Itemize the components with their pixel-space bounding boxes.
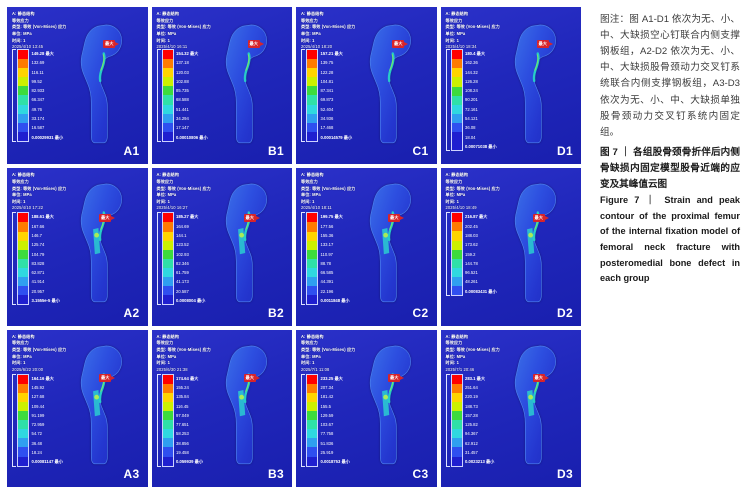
legend-value: 72.161 [465,105,497,114]
legend-values: 199.75 最大177.56155.36133.17110.9788.7866… [321,212,350,305]
legend-value: 149.28 最大 [32,49,64,58]
legend-value: 66.585 [321,268,350,277]
legend-value: 162.36 [465,58,497,67]
legend-value: 18.24 [32,448,63,457]
legend-swatch [307,77,317,86]
legend-value: 102.88 [176,77,208,86]
legend-value: 164.16 最大 [32,374,63,383]
legend-value: 0.00029931 最小 [32,133,64,142]
legend-color-bar [162,212,174,305]
femur-model [358,19,424,147]
contour-panel-b3[interactable]: A: 静态结构等效应力类型: 等效 (Von-Mises) 应力单位: MPa时… [151,329,294,488]
legend-value: 157.28 [465,411,494,420]
legend-swatch [163,259,173,268]
panel-header: A: 静态结构等效应力类型: 等效 (Von-Mises) 应力单位: MPa时… [446,11,500,51]
legend-swatch [307,232,317,241]
max-stress-callout: 最大 [244,214,256,222]
legend-value: 22.196 [321,287,350,296]
legend-bracket [12,49,16,142]
legend-swatch [18,457,28,466]
legend-value: 188.73 [465,402,494,411]
legend-value: 85.735 [176,86,208,95]
legend-swatch [18,402,28,411]
legend-swatch [163,50,173,59]
header-line2: 等效应力 [446,340,500,347]
panel-header: A: 静态结构等效应力类型: 等效 (Von-Mises) 应力单位: MPa时… [157,11,211,51]
panel-id-label: C1 [413,144,429,158]
header-line1: A: 静态结构 [301,172,355,179]
legend-value: 3.1555e-5 最小 [32,296,60,305]
max-stress-callout: 最大 [244,374,256,382]
legend-swatch [18,123,28,132]
legend-swatch [307,241,317,250]
legend-swatch [18,420,28,429]
legend-swatch [452,50,462,59]
legend-value: 90.201 [465,95,497,104]
legend-values: 154.32 最大137.18120.03102.8885.73568.5885… [176,49,208,142]
legend-value: 251.64 [465,383,494,392]
legend-swatch [163,114,173,123]
panel-id-label: B2 [268,306,284,320]
legend-color-bar [162,374,174,467]
legend-swatch [18,411,28,420]
legend-value: 0.0011848 最小 [321,296,350,305]
legend-values: 157.21 最大139.75122.28104.8187.34169.8735… [321,49,353,142]
legend-swatch [163,411,173,420]
legend-swatch [452,420,462,429]
header-line2: 等效应力 [157,340,211,347]
legend-swatch [163,232,173,241]
legend-swatch [18,232,28,241]
header-line3: 类型: 等效 (Von-Mises) 应力 [301,24,355,31]
legend-value: 48.261 [465,277,497,286]
legend-value: 77.651 [176,420,203,429]
legend-swatch [163,86,173,95]
legend-value: 36.08 [465,123,497,132]
legend-value: 44.391 [321,277,350,286]
header-line6: 2025/4/10 17:22 [12,205,66,212]
legend-swatch [18,68,28,77]
legend-value: 34.294 [176,114,208,123]
legend-value: 0.00010806 最小 [176,133,208,142]
legend-bracket [12,212,16,305]
legend-swatch [18,59,28,68]
legend-value: 216.87 最大 [465,212,497,221]
legend-value: 120.03 [176,68,208,77]
legend-swatch [163,295,173,304]
legend-swatch [307,295,317,304]
panel-header: A: 静态结构等效应力类型: 等效 (Von-Mises) 应力单位: MPa时… [301,334,355,374]
legend-swatch [163,457,173,466]
legend-swatch [307,105,317,114]
legend-swatch [163,438,173,447]
header-line6: 2025/4/10 18:11 [301,205,355,212]
header-line4: 单位: MPa [446,192,500,199]
legend-value: 62.871 [32,268,60,277]
legend-value: 125.74 [32,240,60,249]
header-line4: 单位: MPa [157,31,211,38]
legend-value: 58.253 [176,429,203,438]
legend-swatch [163,286,173,295]
legend-value: 66.347 [32,95,64,104]
legend-swatch [163,132,173,141]
legend-swatch [452,59,462,68]
legend-value: 25.919 [321,448,350,457]
header-line2: 等效应力 [446,179,500,186]
legend-swatch [18,393,28,402]
legend-value: 122.28 [321,68,353,77]
legend-value: 132.69 [32,58,64,67]
femur-model [503,340,569,468]
header-line6: 2025/6/30 21:38 [157,367,211,374]
legend-color-bar [306,212,318,305]
panel-id-label: D2 [557,306,573,320]
legend-value: 83.828 [32,259,60,268]
max-stress-callout: 最大 [99,214,111,222]
legend-value: 0.059939 最小 [176,457,203,466]
legend-swatch [163,59,173,68]
panel-id-label: A1 [124,144,140,158]
legend-swatch [18,259,28,268]
legend-value: 54.121 [465,114,497,123]
legend-color-bar [162,49,174,142]
legend-value: 123.52 [176,240,205,249]
femur-model [503,19,569,147]
legend-value: 33.174 [32,114,64,123]
stress-legend: 154.32 最大137.18120.03102.8885.73568.5885… [157,49,208,142]
legend-swatch [452,438,462,447]
legend-value: 180.4 最大 [465,49,497,58]
legend-value: 125.82 [465,420,494,429]
legend-swatch [452,402,462,411]
contour-panel-d2[interactable]: A: 静态结构等效应力类型: 等效 (Von-Mises) 应力单位: MPa时… [440,167,583,326]
legend-value: 0.00081147 最小 [32,457,63,466]
legend-swatch [307,68,317,77]
max-stress-callout: 最大 [388,374,400,382]
caption-note: 图注：图 A1-D1 依次为无、小、中、大缺损空心钉联合内侧支撑钢板组，A2-D… [600,12,740,141]
legend-value: 94.367 [465,429,494,438]
header-line6: 2025/4/10 16:27 [157,205,211,212]
header-line1: A: 静态结构 [446,172,500,179]
legend-value: 61.759 [176,268,205,277]
legend-swatch [18,132,28,141]
legend-swatch [307,268,317,277]
legend-value: 18.04 [465,133,497,142]
header-line5: 时间: 1 [301,360,355,367]
legend-value: 0.00083431 最小 [465,287,497,296]
contour-panel-b1[interactable]: A: 静态结构等效应力类型: 等效 (Von-Mises) 应力单位: MPa时… [151,6,294,165]
legend-value: 0.0008004 最小 [176,296,205,305]
header-line3: 类型: 等效 (Von-Mises) 应力 [12,347,66,354]
legend-swatch [163,429,173,438]
legend-value: 154.32 最大 [176,49,208,58]
legend-value: 0.0018753 最小 [321,457,350,466]
legend-value: 49.76 [32,105,64,114]
header-line3: 类型: 等效 (Von-Mises) 应力 [157,24,211,31]
legend-value: 0.00071038 最小 [465,142,497,151]
header-line5: 时间: 1 [12,360,66,367]
legend-swatch [163,105,173,114]
femur-model [214,340,280,468]
legend-swatch [307,50,317,59]
panel-header: A: 静态结构等效应力类型: 等效 (Von-Mises) 应力单位: MPa时… [12,334,66,374]
legend-value: 77.758 [321,429,350,438]
max-stress-callout: 最大 [533,214,545,222]
legend-value: 185.27 最大 [176,212,205,221]
legend-value: 96.521 [465,268,497,277]
stress-legend: 233.25 最大207.34181.42155.5129.59103.6777… [301,374,350,467]
contour-panel-b2[interactable]: A: 静态结构等效应力类型: 等效 (Von-Mises) 应力单位: MPa时… [151,167,294,326]
legend-swatch [307,132,317,141]
legend-value: 110.97 [321,250,350,259]
legend-swatch [307,222,317,231]
contour-panel-c1[interactable]: A: 静态结构等效应力类型: 等效 (Von-Mises) 应力单位: MPa时… [295,6,438,165]
legend-swatch [307,420,317,429]
max-stress-callout: 最大 [533,374,545,382]
legend-value: 127.68 [32,392,63,401]
legend-value: 91.199 [32,411,63,420]
legend-value: 68.588 [176,95,208,104]
stress-legend: 180.4 最大162.36144.32126.28108.2490.20172… [446,49,497,151]
legend-value: 207.34 [321,383,350,392]
header-line2: 等效应力 [301,179,355,186]
max-stress-callout: 最大 [392,40,404,48]
legend-bracket [12,374,16,467]
legend-swatch [163,250,173,259]
legend-bracket [301,212,305,305]
stress-legend: 164.16 最大145.92127.68109.4491.19972.9595… [12,374,63,467]
legend-bracket [446,49,450,151]
legend-value: 31.457 [465,448,494,457]
legend-swatch [18,114,28,123]
header-line2: 等效应力 [157,179,211,186]
legend-swatch [163,420,173,429]
panel-id-label: D1 [557,144,573,158]
header-line5: 时间: 1 [446,360,500,367]
legend-value: 173.62 [465,240,497,249]
legend-value: 108.24 [465,86,497,95]
legend-swatch [18,429,28,438]
contour-panel-d3[interactable]: A: 静态结构等效应力类型: 等效 (Von-Mises) 应力单位: MPa时… [440,329,583,488]
legend-value: 104.79 [32,250,60,259]
header-line3: 类型: 等效 (Von-Mises) 应力 [157,347,211,354]
legend-swatch [18,86,28,95]
legend-values: 233.25 最大207.34181.42155.5129.59103.6777… [321,374,350,467]
header-line1: A: 静态结构 [301,11,355,18]
legend-value: 139.75 [321,58,353,67]
header-line1: A: 静态结构 [12,11,66,18]
header-line6: 2025/7/1 20:46 [446,367,500,374]
legend-swatch [452,77,462,86]
legend-value: 146.7 [32,231,60,240]
femur-model [503,178,569,306]
header-line3: 类型: 等效 (Von-Mises) 应力 [301,347,355,354]
stress-legend: 216.87 最大202.45188.03173.62159.2144.7896… [446,212,497,296]
panel-header: A: 静态结构等效应力类型: 等效 (Von-Mises) 应力单位: MPa时… [446,334,500,374]
contour-panel-a3[interactable]: A: 静态结构等效应力类型: 等效 (Von-Mises) 应力单位: MPa时… [6,329,149,488]
legend-value: 72.959 [32,420,63,429]
legend-value: 103.67 [321,420,350,429]
panel-id-label: C3 [413,467,429,481]
legend-swatch [18,222,28,231]
legend-value: 157.21 最大 [321,49,353,58]
legend-value: 102.93 [176,250,205,259]
legend-swatch [163,241,173,250]
legend-value: 99.52 [32,77,64,86]
legend-swatch [452,457,462,466]
header-line6: 2025/4/10 18:49 [446,205,500,212]
legend-swatch [18,241,28,250]
stress-legend: 199.75 最大177.56155.36133.17110.9788.7866… [301,212,350,305]
caption-title-en: Figure 7 ｜ Strain and peak contour of th… [600,193,740,287]
legend-swatch [18,250,28,259]
legend-swatch [163,68,173,77]
header-line3: 类型: 等效 (Von-Mises) 应力 [12,24,66,31]
legend-value: 188.03 [465,231,497,240]
legend-value: 116.11 [32,68,64,77]
legend-value: 145.92 [32,383,63,392]
legend-value: 17.147 [176,123,208,132]
legend-swatch [18,95,28,104]
header-line6: 2025/6/22 20:00 [12,367,66,374]
legend-value: 19.458 [176,448,203,457]
header-line3: 类型: 等效 (Von-Mises) 应力 [446,24,500,31]
figure-caption: 图注：图 A1-D1 依次为无、小、中、大缺损空心钉联合内侧支撑钢板组，A2-D… [600,12,740,287]
legend-values: 174.64 最大155.24135.84116.4597.04977.6515… [176,374,203,467]
legend-value: 82.933 [32,86,64,95]
legend-swatch [452,411,462,420]
figure-page: A: 静态结构等效应力类型: 等效 (Von-Mises) 应力单位: MPa时… [0,0,744,494]
stress-legend: 185.27 最大164.69144.1123.52102.9382.34661… [157,212,206,305]
legend-value: 36.48 [32,439,63,448]
legend-value: 220.19 [465,392,494,401]
panel-header: A: 静态结构等效应力类型: 等效 (Von-Mises) 应力单位: MPa时… [12,172,66,212]
legend-swatch [163,95,173,104]
legend-value: 126.28 [465,77,497,86]
header-line3: 类型: 等效 (Von-Mises) 应力 [446,347,500,354]
header-line1: A: 静态结构 [446,11,500,18]
legend-swatch [163,277,173,286]
legend-value: 34.936 [321,114,353,123]
legend-value: 104.81 [321,77,353,86]
legend-value: 109.44 [32,402,63,411]
legend-swatch [18,447,28,456]
legend-color-bar [451,374,463,467]
header-line2: 等效应力 [301,340,355,347]
legend-swatch [452,447,462,456]
legend-swatch [452,277,462,286]
legend-color-bar [306,374,318,467]
max-stress-callout: 最大 [248,40,260,48]
legend-swatch [18,77,28,86]
legend-values: 216.87 最大202.45188.03173.62159.2144.7896… [465,212,497,296]
contour-panel-d1[interactable]: A: 静态结构等效应力类型: 等效 (Von-Mises) 应力单位: MPa时… [440,6,583,165]
legend-bracket [301,374,305,467]
legend-value: 52.404 [321,105,353,114]
legend-value: 41.914 [32,277,60,286]
contour-panel-a2[interactable]: A: 静态结构等效应力类型: 等效 (Von-Mises) 应力单位: MPa时… [6,167,149,326]
legend-swatch [163,222,173,231]
legend-values: 283.1 最大251.64220.19188.73157.28125.8294… [465,374,494,467]
legend-value: 233.25 最大 [321,374,350,383]
legend-values: 188.61 最大167.66146.7125.74104.7983.82862… [32,212,60,305]
femur-model [69,19,135,147]
legend-swatch [163,123,173,132]
legend-value: 177.56 [321,222,350,231]
legend-color-bar [451,49,463,151]
legend-swatch [452,393,462,402]
legend-value: 82.346 [176,259,205,268]
legend-swatch [307,250,317,259]
legend-value: 41.173 [176,277,205,286]
legend-value: 188.61 最大 [32,212,60,221]
femur-model [69,178,135,306]
legend-value: 137.18 [176,58,208,67]
legend-value: 38.856 [176,439,203,448]
header-line4: 单位: MPa [446,31,500,38]
legend-value: 54.72 [32,429,63,438]
legend-swatch [452,132,462,141]
legend-value: 17.468 [321,123,353,132]
panel-id-label: C2 [413,306,429,320]
legend-value: 20.587 [176,287,205,296]
panel-id-label: B3 [268,467,284,481]
legend-swatch [452,222,462,231]
legend-swatch [18,277,28,286]
header-line4: 单位: MPa [301,31,355,38]
header-line2: 等效应力 [12,179,66,186]
header-line1: A: 静态结构 [157,172,211,179]
legend-values: 164.16 最大145.92127.68109.4491.19972.9595… [32,374,63,467]
legend-swatch [452,105,462,114]
contour-panel-a1[interactable]: A: 静态结构等效应力类型: 等效 (Von-Mises) 应力单位: MPa时… [6,6,149,165]
legend-swatch [18,438,28,447]
legend-swatch [307,438,317,447]
legend-swatch [307,393,317,402]
legend-bracket [157,212,161,305]
header-line1: A: 静态结构 [12,172,66,179]
contour-panel-c2[interactable]: A: 静态结构等效应力类型: 等效 (Von-Mises) 应力单位: MPa时… [295,167,438,326]
legend-swatch [452,429,462,438]
panel-header: A: 静态结构等效应力类型: 等效 (Von-Mises) 应力单位: MPa时… [301,11,355,51]
contour-panel-c3[interactable]: A: 静态结构等效应力类型: 等效 (Von-Mises) 应力单位: MPa时… [295,329,438,488]
panel-id-label: A2 [124,306,140,320]
legend-value: 129.59 [321,411,350,420]
legend-swatch [307,123,317,132]
legend-swatch [452,87,462,96]
max-stress-callout: 最大 [388,214,400,222]
legend-swatch [163,268,173,277]
femur-model [214,19,280,147]
legend-swatch [307,59,317,68]
stress-legend: 283.1 最大251.64220.19188.73157.28125.8294… [446,374,495,467]
legend-value: 88.78 [321,259,350,268]
header-line2: 等效应力 [12,340,66,347]
legend-swatch [18,286,28,295]
panel-header: A: 静态结构等效应力类型: 等效 (Von-Mises) 应力单位: MPa时… [157,334,211,374]
legend-swatch [307,86,317,95]
legend-value: 62.912 [465,439,494,448]
femur-model [358,340,424,468]
legend-value: 0.0023213 最小 [465,457,494,466]
legend-value: 16.587 [32,123,64,132]
legend-value: 87.341 [321,86,353,95]
legend-bracket [301,49,305,142]
stress-legend: 149.28 最大132.69116.1199.5282.93366.34749… [12,49,63,142]
legend-swatch [163,213,173,222]
legend-swatch [307,402,317,411]
legend-value: 181.42 [321,392,350,401]
